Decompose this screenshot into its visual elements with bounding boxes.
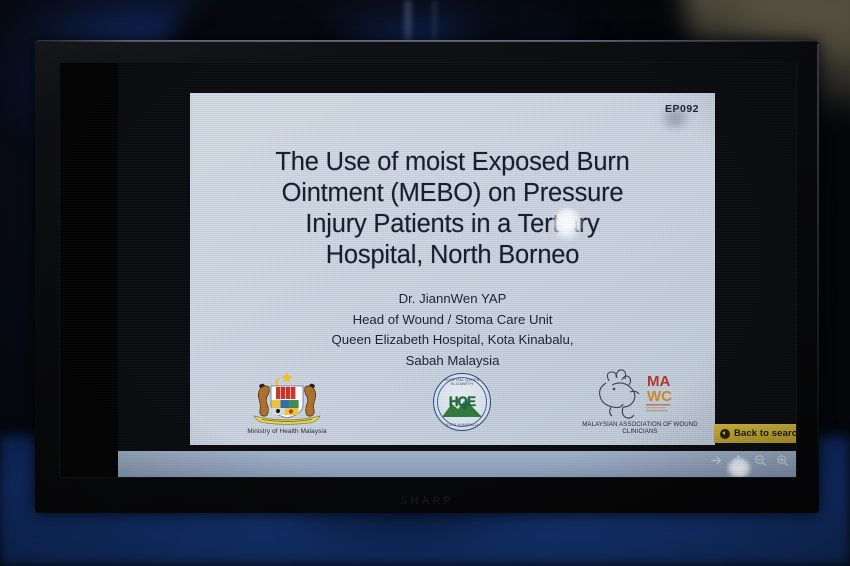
title-line: Injury Patients in a Tertiary	[216, 209, 689, 240]
slide-code-label: EP092	[665, 103, 699, 115]
mawc-caption: MALAYSIAN ASSOCIATION OF WOUND CLINICIAN…	[565, 421, 715, 435]
zoom-in-icon[interactable]	[776, 454, 789, 467]
author-line: Queen Elizabeth Hospital, Kota Kinabalu,	[216, 330, 689, 351]
wound-clinicians-dove-icon: MA WC	[581, 367, 699, 421]
bezel-edge-right	[817, 44, 819, 498]
viewer-toolbar	[710, 454, 789, 467]
monitor-brand-label: SHARP	[35, 495, 819, 507]
back-to-search-button[interactable]: Back to search	[714, 424, 797, 443]
ministry-of-health-caption: Ministry of Health Malaysia	[212, 428, 362, 435]
author-line: Dr. JiannWen YAP	[216, 289, 689, 310]
mawc-logo: MA WC MALAYSIAN ASSOCIATION OF WOUND CLI…	[565, 367, 715, 435]
author-line: Head of Wound / Stoma Care Unit	[216, 310, 689, 331]
pan-move-icon[interactable]	[732, 454, 745, 467]
hospital-roundel-icon: HOSPITAL QUEEN ELIZABETH HQE KOTA KINABA…	[433, 373, 491, 431]
monitor: EP092 The Use of moist Exposed Burn Oint…	[35, 40, 819, 513]
back-arrow-icon	[720, 429, 730, 439]
title-line: The Use of moist Exposed Burn	[216, 147, 689, 178]
photo-scene: EP092 The Use of moist Exposed Burn Oint…	[0, 0, 850, 566]
queen-elizabeth-hospital-logo: HOSPITAL QUEEN ELIZABETH HQE KOTA KINABA…	[417, 373, 507, 431]
slide-logo-row: Ministry of Health Malaysia HOSPITAL QUE…	[190, 351, 715, 439]
title-line: Hospital, North Borneo	[216, 240, 689, 271]
bezel-highlight	[35, 40, 819, 42]
slide-title: The Use of moist Exposed Burn Ointment (…	[216, 147, 689, 271]
zoom-out-icon[interactable]	[754, 454, 767, 467]
malaysia-coat-of-arms-icon	[232, 369, 342, 427]
presentation-slide[interactable]: EP092 The Use of moist Exposed Burn Oint…	[190, 93, 715, 445]
roundel-monogram: HQE	[434, 394, 490, 409]
arrow-right-icon[interactable]	[710, 454, 723, 467]
roundel-arc-bottom: KOTA KINABALU	[434, 423, 490, 427]
title-line: Ointment (MEBO) on Pressure	[216, 178, 689, 209]
ministry-of-health-malaysia-logo: Ministry of Health Malaysia	[212, 369, 362, 435]
svg-text:WC: WC	[647, 388, 672, 405]
monitor-screen: EP092 The Use of moist Exposed Burn Oint…	[59, 62, 797, 478]
viewer-toolbar-band	[118, 451, 796, 477]
roundel-arc-top: HOSPITAL QUEEN ELIZABETH	[434, 378, 490, 386]
back-to-search-label: Back to search	[734, 428, 797, 439]
